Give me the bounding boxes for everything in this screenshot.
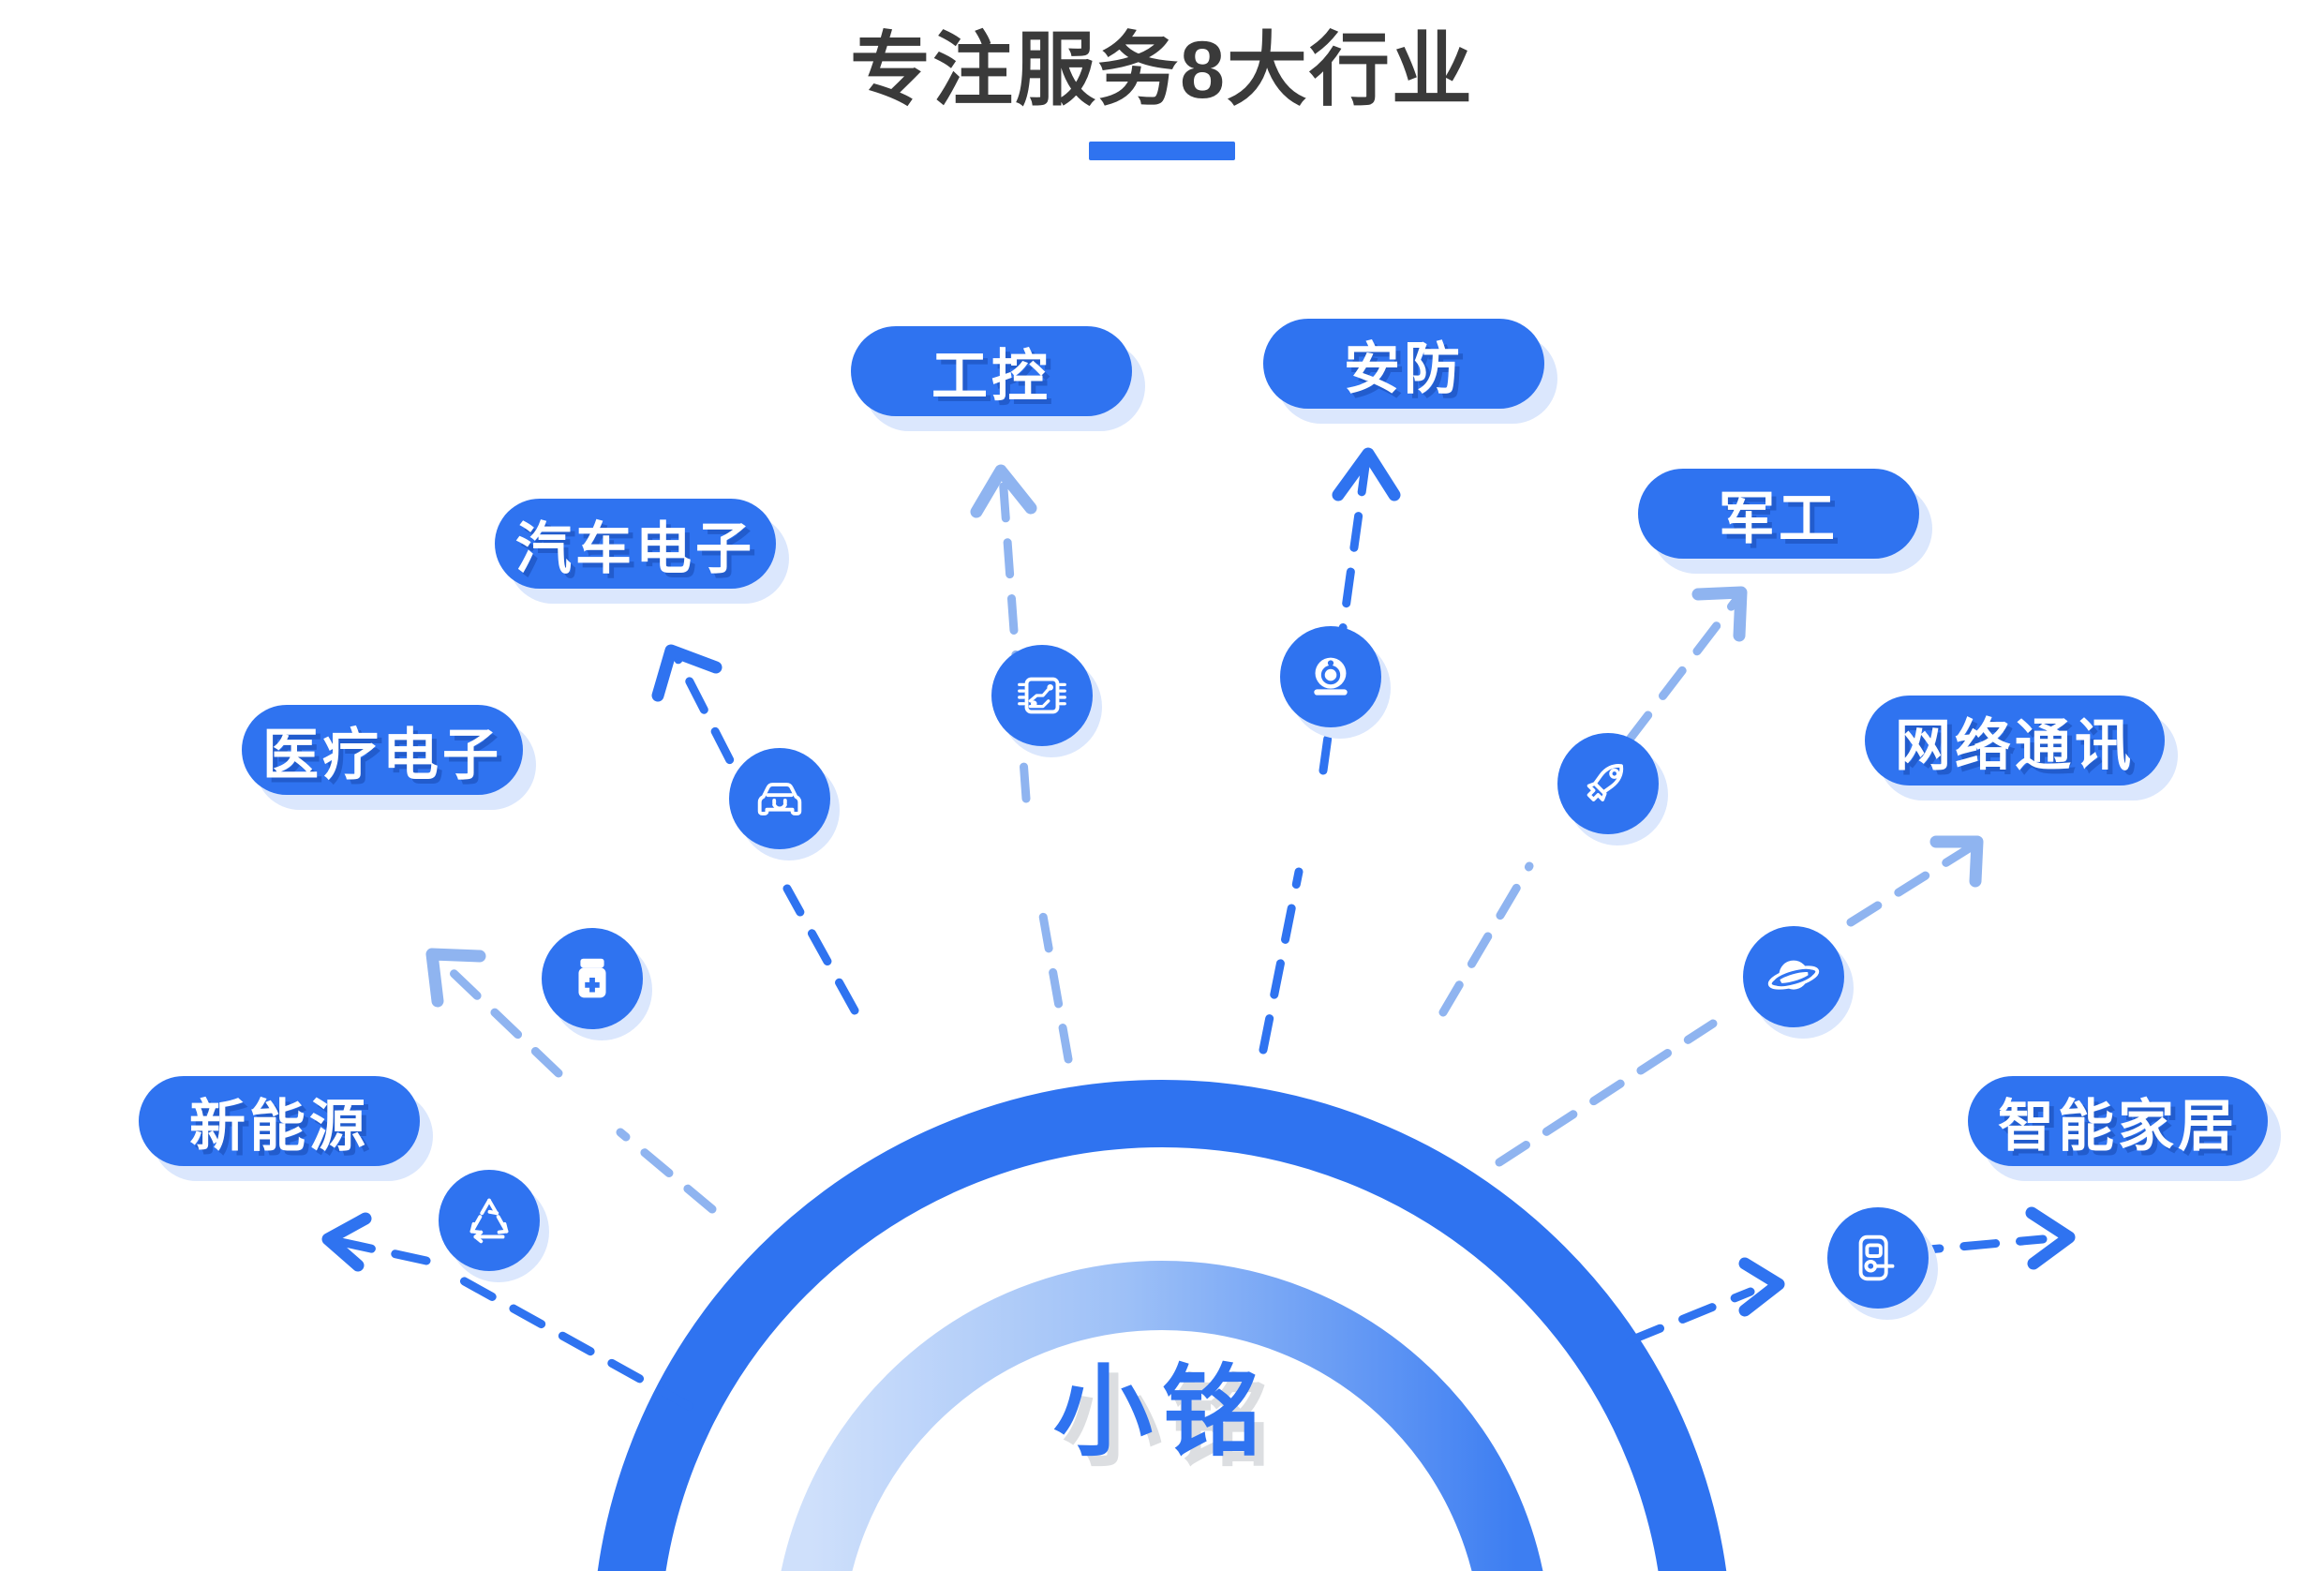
- connector-network-communication: [1499, 842, 1977, 1162]
- industry-icon-new-energy[interactable]: [439, 1170, 540, 1271]
- industry-icon-smart-home[interactable]: [1827, 1207, 1929, 1309]
- industry-label-military: 军工: [1719, 473, 1839, 555]
- chip-circuit-icon: [1013, 666, 1071, 725]
- industry-icon-medical-electronics[interactable]: [542, 928, 643, 1029]
- industry-icon-automotive-electronics[interactable]: [729, 748, 830, 849]
- connector-security: [1263, 454, 1394, 1050]
- medicine-bottle-icon: [563, 950, 621, 1008]
- security-camera-icon: [1302, 648, 1360, 706]
- industry-label-automotive-electronics: 汽车电子: [515, 503, 755, 585]
- industry-pill-network-communication[interactable]: 网络通讯: [1865, 696, 2165, 785]
- rocket-icon: [1579, 755, 1637, 813]
- industry-pill-industrial-control[interactable]: 工控: [851, 326, 1132, 416]
- industry-pill-military[interactable]: 军工: [1638, 469, 1919, 559]
- industry-pill-security[interactable]: 安防: [1263, 319, 1544, 409]
- center-brand-text: 小铭: [1053, 1357, 1271, 1468]
- connector-industrial-control: [976, 471, 1068, 1059]
- industry-icon-industrial-control[interactable]: [991, 645, 1093, 746]
- industry-pill-smart-home[interactable]: 智能家居: [1968, 1076, 2268, 1166]
- industry-label-security: 安防: [1344, 323, 1464, 405]
- industry-label-smart-home: 智能家居: [1998, 1081, 2238, 1162]
- industry-pill-automotive-electronics[interactable]: 汽车电子: [495, 499, 776, 589]
- industry-icon-security[interactable]: [1280, 626, 1381, 727]
- industry-label-medical-electronics: 医疗电子: [262, 710, 502, 791]
- industry-pill-new-energy[interactable]: 新能源: [139, 1076, 420, 1166]
- center-brand-block: 小铭: [951, 1331, 1373, 1475]
- car-icon: [751, 770, 809, 828]
- industry-pill-medical-electronics[interactable]: 医疗电子: [242, 705, 523, 795]
- infographic-canvas: 专注服务8大行业: [0, 0, 2324, 1571]
- globe-orbit-icon: [1765, 948, 1823, 1006]
- industry-label-new-energy: 新能源: [189, 1081, 369, 1162]
- door-lock-icon: [1849, 1229, 1907, 1287]
- recycle-icon: [460, 1191, 518, 1249]
- industry-icon-military[interactable]: [1557, 733, 1659, 834]
- industry-label-network-communication: 网络通讯: [1895, 700, 2135, 782]
- industry-label-industrial-control: 工控: [931, 331, 1051, 412]
- industry-icon-network-communication[interactable]: [1743, 926, 1844, 1027]
